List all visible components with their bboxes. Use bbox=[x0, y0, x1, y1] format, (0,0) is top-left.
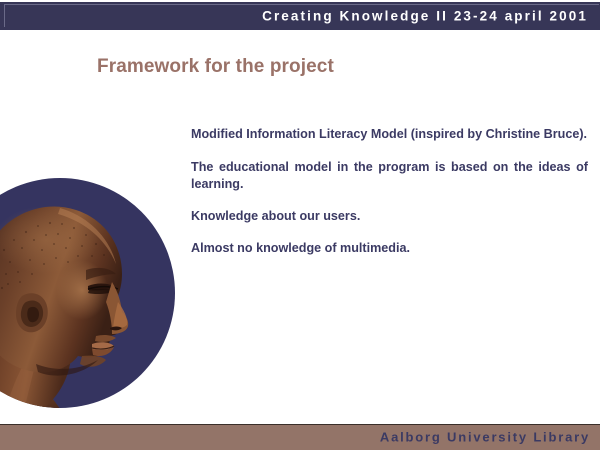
slide-canvas: { "header": { "title": "Creating Knowled… bbox=[0, 0, 600, 450]
header-bar: Creating Knowledge II 23-24 april 2001 bbox=[0, 2, 600, 30]
page-title: Framework for the project bbox=[97, 56, 334, 78]
body-paragraph-2: The educational model in the program is … bbox=[191, 159, 588, 193]
slide-body: Modified Information Literacy Model (ins… bbox=[191, 126, 588, 257]
portrait-photo-image bbox=[0, 178, 200, 424]
conference-header-title: Creating Knowledge II 23-24 april 2001 bbox=[262, 9, 588, 24]
body-paragraph-3: Knowledge about our users. bbox=[191, 208, 588, 225]
organization-name: Aalborg University Library bbox=[380, 430, 590, 445]
footer-bar: Aalborg University Library bbox=[0, 424, 600, 450]
portrait-disc-container bbox=[0, 178, 200, 424]
body-paragraph-1: Modified Information Literacy Model (ins… bbox=[191, 126, 588, 143]
body-paragraph-4: Almost no knowledge of multimedia. bbox=[191, 240, 588, 257]
